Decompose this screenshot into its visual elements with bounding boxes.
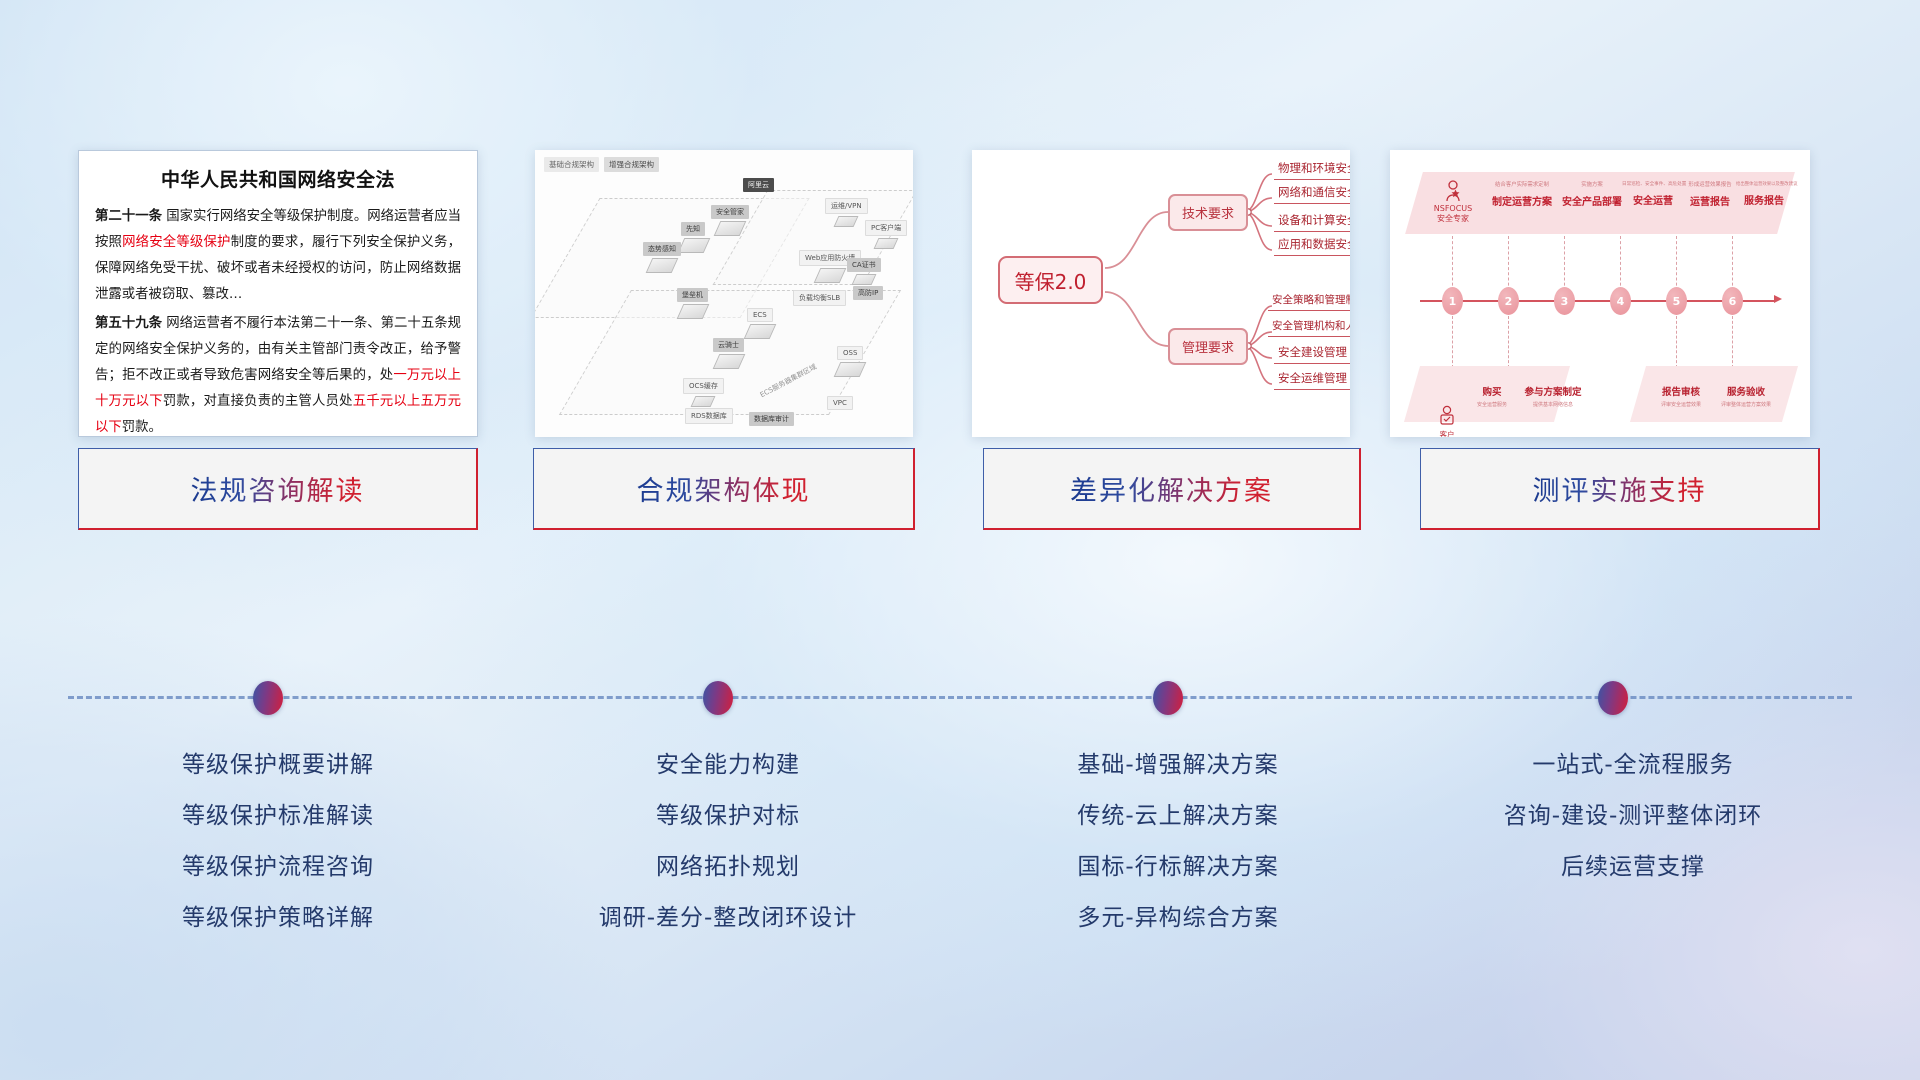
timeline-dot-3: [1153, 681, 1183, 715]
heading-row: 法规咨询解读 合规架构体现 差异化解决方案 测评实施支持: [0, 448, 1920, 530]
tab-enhanced-architecture[interactable]: 增强合规架构: [604, 157, 659, 172]
timeline-dot-4: [1598, 681, 1628, 715]
node-ca-cert: CA证书: [847, 258, 881, 285]
law-paragraph-2: 第五十九条 网络运营者不履行本法第二十一条、第二十五条规定的网络安全保护义务的，…: [95, 311, 461, 437]
nsfocus-card: NSFOCUS 安全专家 结合客户实际需求定制 制定运营方案 实施方案 安全产品…: [1390, 150, 1810, 437]
mindmap-leaf: 安全运维管理: [1274, 370, 1350, 390]
node-anti-ddos-ip: 高防IP: [853, 286, 883, 300]
law-card: 中华人民共和国网络安全法 第二十一条 国家实行网络安全等级保护制度。网络运营者应…: [78, 150, 478, 437]
list-item: 等级保护标准解读: [58, 791, 498, 842]
law-article-number: 第二十一条: [95, 209, 162, 224]
list-item: 传统-云上解决方案: [958, 791, 1398, 842]
law-highlight: 网络安全等级保护: [122, 235, 231, 250]
connector-dash: [1508, 316, 1509, 368]
nsfocus-expert-label: NSFOCUS 安全专家: [1424, 180, 1482, 224]
list-item: 多元-异构综合方案: [958, 893, 1398, 944]
top-stage-5: 给出整体运营效果以及整改建议 服务报告: [1736, 182, 1792, 207]
node-security-steward: 安全管家: [711, 205, 749, 236]
heading-label: 测评实施支持: [1533, 469, 1707, 508]
top-stage-4: 形成运营效果报告 运营报告: [1682, 182, 1738, 208]
mindmap: 等保2.0 技术要求 管理要求 物理和环境安全 网络和通信安全 设备和计算安全 …: [972, 150, 1350, 437]
list-item: 咨询-建设-测评整体闭环: [1398, 791, 1868, 842]
node-yunqishi: 云骑士: [713, 338, 744, 369]
detail-column-4: 一站式-全流程服务 咨询-建设-测评整体闭环 后续运营支撑: [1398, 740, 1868, 893]
list-item: 等级保护概要讲解: [58, 740, 498, 791]
mindmap-leaf: 应用和数据安全: [1274, 236, 1350, 256]
cube-icon: [834, 216, 859, 227]
law-text: 罚款。: [122, 420, 162, 435]
cube-icon: [676, 304, 709, 319]
cube-icon: [646, 258, 679, 273]
timeline-dashed-line: [68, 696, 1852, 699]
node-pc-client: PC客户端: [865, 220, 907, 249]
mindmap-leaf: 安全策略和管理制度: [1268, 292, 1350, 311]
list-item: 基础-增强解决方案: [958, 740, 1398, 791]
connector-dash: [1676, 316, 1677, 368]
cube-icon: [874, 238, 899, 249]
law-body: 第二十一条 国家实行网络安全等级保护制度。网络运营者应当按照网络安全等级保护制度…: [95, 204, 461, 437]
mindmap-branch-management: 管理要求: [1168, 328, 1248, 365]
node-oss: OSS: [837, 346, 863, 377]
law-title: 中华人民共和国网络安全法: [95, 165, 461, 192]
list-item: 一站式-全流程服务: [1398, 740, 1868, 791]
node-vpc: VPC: [827, 396, 853, 410]
heading-box-1[interactable]: 法规咨询解读: [78, 448, 478, 530]
cube-icon: [851, 274, 876, 285]
architecture-tabs: 基础合规架构 增强合规架构: [544, 157, 659, 172]
customer-label: 客户: [1426, 405, 1468, 437]
list-item: 安全能力构建: [508, 740, 948, 791]
cube-icon: [744, 324, 777, 339]
heading-box-2[interactable]: 合规架构体现: [533, 448, 915, 530]
expert-name: NSFOCUS: [1424, 204, 1482, 214]
law-paragraph-1: 第二十一条 国家实行网络安全等级保护制度。网络运营者应当按照网络安全等级保护制度…: [95, 204, 461, 309]
mindmap-leaf: 设备和计算安全: [1274, 212, 1350, 232]
detail-column-2: 安全能力构建 等级保护对标 网络拓扑规划 调研-差分-整改闭环设计: [508, 740, 948, 944]
mindmap-root: 等保2.0: [998, 256, 1103, 304]
node-situation-awareness: 态势感知: [643, 242, 681, 273]
timeline-dot-1: [253, 681, 283, 715]
node-ops-vpn: 运维/VPN: [825, 198, 868, 227]
mindmap-leaf: 物理和环境安全: [1274, 160, 1350, 180]
node-aliyun: 阿里云: [743, 178, 774, 192]
list-item: 网络拓扑规划: [508, 842, 948, 893]
expert-person-icon: [1445, 180, 1461, 202]
architecture-card: 基础合规架构 增强合规架构 阿里云 安全管家 先知 态势感知: [535, 150, 913, 437]
slide-canvas: 中华人民共和国网络安全法 第二十一条 国家实行网络安全等级保护制度。网络运营者应…: [0, 0, 1920, 1080]
connector-dash: [1732, 316, 1733, 368]
detail-column-3: 基础-增强解决方案 传统-云上解决方案 国标-行标解决方案 多元-异构综合方案: [958, 740, 1398, 944]
expert-role: 安全专家: [1424, 214, 1482, 224]
node-ocs-cache: OCS缓存: [683, 378, 724, 407]
bottom-stage-4: 服务验收 评审整体运营方案效果: [1710, 384, 1782, 408]
timeline-arrow-icon: [1774, 295, 1782, 303]
node-rds-database: RDS数据库: [685, 408, 733, 424]
customer-person-icon: [1438, 405, 1456, 427]
node-ecs: ECS: [747, 308, 773, 339]
law-content: 中华人民共和国网络安全法 第二十一条 国家实行网络安全等级保护制度。网络运营者应…: [79, 151, 477, 437]
top-stage-2: 实施方案 安全产品部署: [1560, 182, 1624, 208]
timeline-dot-2: [703, 681, 733, 715]
heading-label: 合规架构体现: [637, 469, 811, 508]
top-stage-1: 结合客户实际需求定制 制定运营方案: [1486, 182, 1558, 208]
cube-icon: [678, 238, 711, 253]
step-number-5: 5: [1666, 287, 1687, 315]
list-item: 后续运营支撑: [1398, 842, 1868, 893]
bottom-stage-1: 购买 安全运营服务: [1468, 384, 1516, 408]
top-stage-3: 日常巡检、安全事件、高危处置 安全运营: [1622, 182, 1684, 207]
cube-icon: [834, 362, 867, 377]
mindmap-branch-technical: 技术要求: [1168, 194, 1248, 231]
heading-box-3[interactable]: 差异化解决方案: [983, 448, 1361, 530]
detail-column-1: 等级保护概要讲解 等级保护标准解读 等级保护流程咨询 等级保护策略详解: [58, 740, 498, 944]
step-number-3: 3: [1554, 287, 1575, 315]
mindmap-leaf: 安全建设管理: [1274, 344, 1350, 364]
step-number-4: 4: [1610, 287, 1631, 315]
image-card-row: 中华人民共和国网络安全法 第二十一条 国家实行网络安全等级保护制度。网络运营者应…: [0, 150, 1920, 440]
list-item: 调研-差分-整改闭环设计: [508, 893, 948, 944]
bottom-stage-2: 参与方案制定 提供基本网络信息: [1516, 384, 1590, 408]
list-item: 国标-行标解决方案: [958, 842, 1398, 893]
list-item: 等级保护策略详解: [58, 893, 498, 944]
heading-box-4[interactable]: 测评实施支持: [1420, 448, 1820, 530]
node-bastion-host: 堡垒机: [677, 288, 708, 319]
tab-basic-architecture[interactable]: 基础合规架构: [544, 157, 599, 172]
step-number-1: 1: [1442, 287, 1463, 315]
list-item: 等级保护流程咨询: [58, 842, 498, 893]
node-db-audit: 数据库审计: [749, 412, 794, 426]
cube-icon: [814, 268, 847, 283]
architecture-diagram: 基础合规架构 增强合规架构 阿里云 安全管家 先知 态势感知: [535, 150, 913, 437]
step-number-2: 2: [1498, 287, 1519, 315]
step-number-6: 6: [1722, 287, 1743, 315]
cube-icon: [714, 221, 747, 236]
mindmap-card: 等保2.0 技术要求 管理要求 物理和环境安全 网络和通信安全 设备和计算安全 …: [972, 150, 1350, 437]
mindmap-leaf: 网络和通信安全: [1274, 184, 1350, 204]
heading-label: 差异化解决方案: [1070, 469, 1273, 508]
list-item: 等级保护对标: [508, 791, 948, 842]
mindmap-leaf: 安全管理机构和人员: [1268, 318, 1350, 337]
cube-icon: [691, 396, 716, 407]
connector-dash: [1452, 316, 1453, 368]
customer-name: 客户: [1426, 429, 1468, 437]
bottom-stage-3: 报告审核 评审安全运营效果: [1648, 384, 1714, 408]
cube-icon: [712, 354, 745, 369]
heading-label: 法规咨询解读: [191, 469, 365, 508]
node-slb: 负载均衡SLB: [793, 290, 846, 306]
law-article-number: 第五十九条: [95, 316, 162, 331]
nsfocus-service-flow: NSFOCUS 安全专家 结合客户实际需求定制 制定运营方案 实施方案 安全产品…: [1390, 150, 1810, 437]
node-xianzhi: 先知: [681, 222, 707, 253]
law-text: 罚款，对直接负责的主管人员处: [163, 394, 353, 409]
